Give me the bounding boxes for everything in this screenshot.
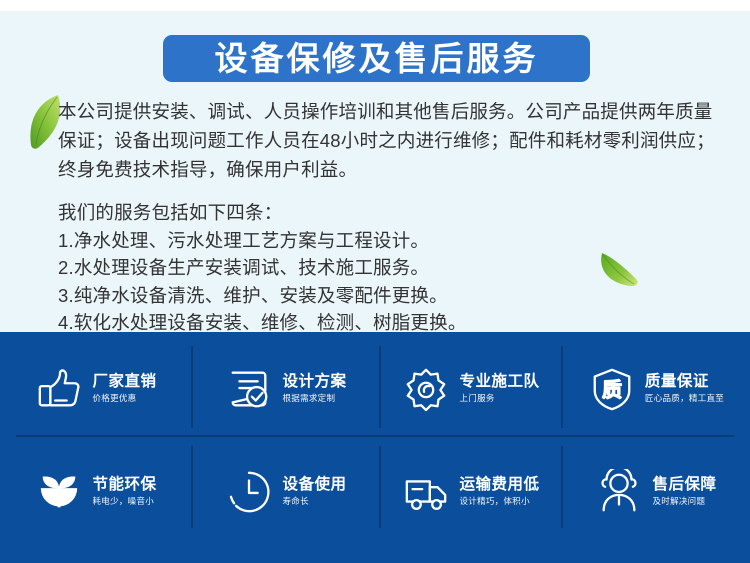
feature-subtitle: 上门服务 — [459, 394, 539, 403]
feature-title: 节能环保 — [92, 477, 156, 493]
feature-subtitle: 寿命长 — [282, 497, 346, 506]
feature-title: 质量保证 — [645, 374, 724, 390]
feature-subtitle: 价格更优惠 — [92, 394, 156, 403]
clock-icon — [225, 468, 273, 516]
feature-cell-design-plan[interactable]: 设计方案 根据需求定制 — [192, 337, 380, 440]
thumbs-up-icon — [35, 365, 83, 413]
divider-vertical — [379, 346, 381, 428]
divider-vertical — [561, 346, 563, 428]
eco-leaf-icon — [35, 468, 83, 516]
features-grid: 厂家直销 价格更优惠 设计方案 根据需求定制 — [0, 332, 750, 563]
feature-title: 设计方案 — [282, 374, 346, 390]
feature-subtitle: 耗电少，噪音小 — [92, 497, 156, 506]
feature-cell-low-shipping-cost[interactable]: 运输费用低 设计精巧，体积小 — [380, 440, 562, 543]
feature-title: 设备使用 — [282, 477, 346, 493]
feature-cell-factory-direct[interactable]: 厂家直销 价格更优惠 — [0, 337, 192, 440]
service-item-3: 3.纯净水设备清洗、维护、安装及零配件更换。 — [58, 282, 718, 310]
truck-icon — [402, 468, 450, 516]
features-section: 厂家直销 价格更优惠 设计方案 根据需求定制 — [0, 332, 750, 563]
feature-subtitle: 及时解决问题 — [652, 497, 716, 506]
section-title-badge: 设备保修及售后服务 — [163, 35, 590, 82]
feature-subtitle: 根据需求定制 — [282, 394, 346, 403]
page-root: 设备保修及售后服务 — [0, 0, 750, 563]
service-list-heading: 我们的服务包括如下四条： — [58, 199, 718, 227]
service-item-1: 1.净水处理、污水处理工艺方案与工程设计。 — [58, 227, 718, 255]
feature-cell-equipment-lifespan[interactable]: 设备使用 寿命长 — [192, 440, 380, 543]
divider-horizontal — [16, 435, 734, 437]
divider-vertical — [379, 446, 381, 528]
feature-cell-after-sales-support[interactable]: 售后保障 及时解决问题 — [562, 440, 750, 543]
divider-vertical — [561, 446, 563, 528]
feature-title: 专业施工队 — [459, 374, 539, 390]
page-title: 设备保修及售后服务 — [215, 42, 539, 75]
feature-title: 运输费用低 — [459, 477, 539, 493]
feature-subtitle: 匠心品质，精工直至 — [645, 394, 724, 403]
divider-vertical — [191, 446, 193, 528]
customer-support-icon — [595, 468, 643, 516]
feature-subtitle: 设计精巧，体积小 — [459, 497, 539, 506]
intro-paragraph: 本公司提供安装、调试、人员操作培训和其他售后服务。公司产品提供两年质量保证；设备… — [58, 97, 718, 184]
gear-settings-icon — [402, 365, 450, 413]
svg-text:质: 质 — [602, 378, 622, 401]
feature-cell-quality-guarantee[interactable]: 质 质量保证 匠心品质，精工直至 — [562, 337, 750, 440]
intro-section: 设备保修及售后服务 — [0, 11, 750, 332]
feature-cell-energy-saving[interactable]: 节能环保 耗电少，噪音小 — [0, 440, 192, 543]
feature-cell-professional-team[interactable]: 专业施工队 上门服务 — [380, 337, 562, 440]
service-list: 我们的服务包括如下四条： 1.净水处理、污水处理工艺方案与工程设计。 2.水处理… — [58, 199, 718, 337]
divider-vertical — [191, 346, 193, 428]
feature-title: 厂家直销 — [92, 374, 156, 390]
quality-shield-icon: 质 — [588, 365, 636, 413]
feature-title: 售后保障 — [652, 477, 716, 493]
service-item-2: 2.水处理设备生产安装调试、技术施工服务。 — [58, 254, 718, 282]
document-check-icon — [225, 365, 273, 413]
